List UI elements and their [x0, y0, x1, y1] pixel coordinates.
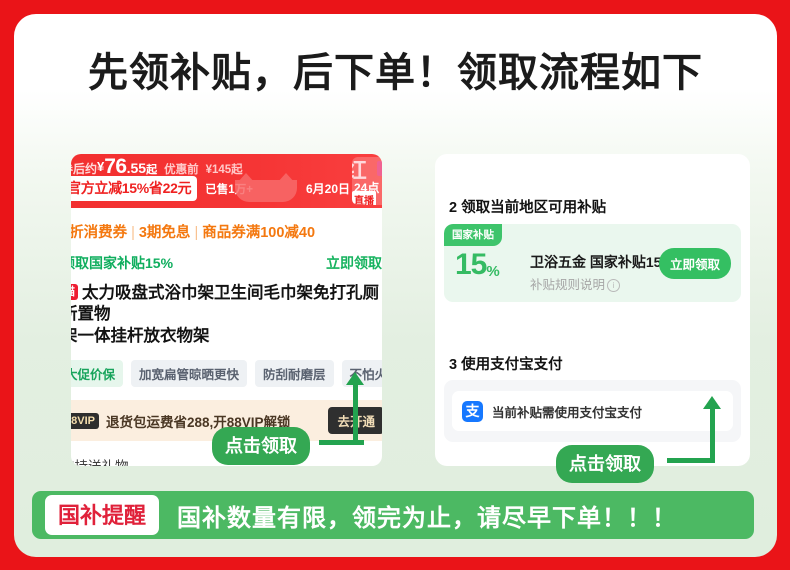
price-integer: 76 — [104, 155, 126, 178]
page-title: 先领补贴，后下单！领取流程如下 — [14, 40, 777, 98]
product-title-line2: 架一体挂杆放衣物架 — [71, 327, 210, 345]
step-2-title: 2 领取当前地区可用补贴 — [449, 196, 606, 217]
alipay-note: 当前补贴需使用支付宝支付 — [492, 402, 642, 421]
claim-subsidy-button[interactable]: 立即领取 — [659, 248, 731, 279]
page-root: 先领补贴，后下单！领取流程如下 券后约¥76.55起优惠前¥145起 官方立减1… — [0, 0, 790, 570]
product-title[interactable]: 猫太力吸盘式浴巾架卫生间毛巾架免打孔厕所置物 架一体挂杆放衣物架 — [71, 273, 382, 347]
subsidy-rule-link[interactable]: 补贴规则说明i — [530, 274, 620, 293]
product-title-line1: 太力吸盘式浴巾架卫生间毛巾架免打孔厕所置物 — [71, 284, 379, 323]
coupon-item-3: 商品券满100减40 — [202, 225, 315, 241]
price-banner: 券后约¥76.55起优惠前¥145起 官方立减15%省22元 已售1万+ 6月2… — [71, 154, 382, 208]
subsidy-card: 国家补贴 15% 卫浴五金 国家补贴15% 补贴规则说明i 立即领取 — [444, 224, 741, 302]
official-discount-badge: 官方立减15%省22元 — [71, 176, 197, 201]
left-screenshot-content: 券后约¥76.55起优惠前¥145起 官方立减15%省22元 已售1万+ 6月2… — [71, 154, 382, 466]
coupon-item-2: 3期免息 — [139, 225, 191, 241]
price-suffix: 起 — [146, 164, 157, 176]
product-tag: 防刮耐磨层 — [255, 360, 334, 387]
right-steps-card: 2 领取当前地区可用补贴 国家补贴 15% 卫浴五金 国家补贴15% 补贴规则说… — [435, 154, 750, 466]
subsidy-percent-symbol: % — [486, 263, 498, 280]
product-tag: 大促价保 — [71, 360, 123, 387]
promo-date: 6月20日 — [306, 180, 350, 197]
bottom-reminder-banner: 国补提醒 国补数量有限，领完为止，请尽早下单！！！ — [32, 491, 754, 539]
info-icon: i — [607, 279, 620, 292]
coupon-line: 9折消费券|3期免息|商品券满100减40 — [71, 208, 382, 242]
coupon-item-1: 9折消费券 — [71, 225, 127, 241]
subsidy-card-title: 卫浴五金 国家补贴15% — [530, 252, 674, 272]
claim-now-link[interactable]: 立即领取 — [326, 253, 382, 273]
right-callout-hline — [667, 458, 715, 463]
discount-line: 官方立减15%省22元 已售1万+ — [71, 176, 253, 201]
right-callout-vline — [710, 408, 715, 461]
panels-row: 券后约¥76.55起优惠前¥145起 官方立减15%省22元 已售1万+ 6月2… — [14, 140, 777, 480]
cat-head-decor — [235, 180, 297, 202]
right-callout-pill: 点击领取 — [556, 445, 654, 483]
alipay-row[interactable]: 支 当前补贴需使用支付宝支付 — [452, 391, 733, 431]
left-callout-arrow-icon — [346, 372, 364, 385]
inner-frame: 先领补贴，后下单！领取流程如下 券后约¥76.55起优惠前¥145起 官方立减1… — [14, 14, 777, 557]
step-3-title: 3 使用支付宝支付 — [449, 353, 563, 374]
left-callout-pill: 点击领取 — [212, 427, 310, 465]
subsidy-rule-text: 补贴规则说明 — [530, 278, 605, 292]
tmall-badge-icon: 猫 — [71, 284, 78, 300]
product-tag: 加宽扁管晾晒更快 — [131, 360, 247, 387]
left-callout-vline — [353, 383, 358, 443]
reminder-pill-label: 国补提醒 — [45, 495, 159, 535]
live-label: 直播 — [352, 191, 376, 205]
coupon-sep-2: | — [194, 225, 198, 241]
live-indicator-icon — [377, 161, 382, 176]
subsidy-percent: 15% — [455, 248, 499, 282]
vip-badge: 88VIP — [71, 413, 99, 429]
payment-card: 支 当前补贴需使用支付宝支付 — [444, 380, 741, 442]
live-badge[interactable]: 618红 24点 直播 — [352, 157, 382, 205]
after-coupon-label: 券后约 — [71, 162, 97, 176]
subsidy-text: 领取国家补贴15% — [71, 253, 173, 273]
gov-subsidy-badge: 国家补贴 — [444, 224, 502, 246]
subsidy-line-row[interactable]: 领取国家补贴15% 立即领取 — [71, 242, 382, 273]
original-price-label: 优惠前 — [164, 164, 199, 176]
product-tag-row: 大促价保 加宽扁管晾晒更快 防刮耐磨层 不怕火 — [71, 347, 382, 387]
reminder-text: 国补数量有限，领完为止，请尽早下单！！！ — [177, 498, 677, 533]
alipay-icon: 支 — [462, 401, 483, 422]
left-screenshot-card: 券后约¥76.55起优惠前¥145起 官方立减15%省22元 已售1万+ 6月2… — [71, 154, 382, 466]
coupon-sep-1: | — [131, 225, 135, 241]
right-callout-arrow-icon — [703, 396, 721, 409]
price-decimal: .55 — [127, 160, 146, 176]
subsidy-percent-value: 15 — [455, 248, 486, 281]
